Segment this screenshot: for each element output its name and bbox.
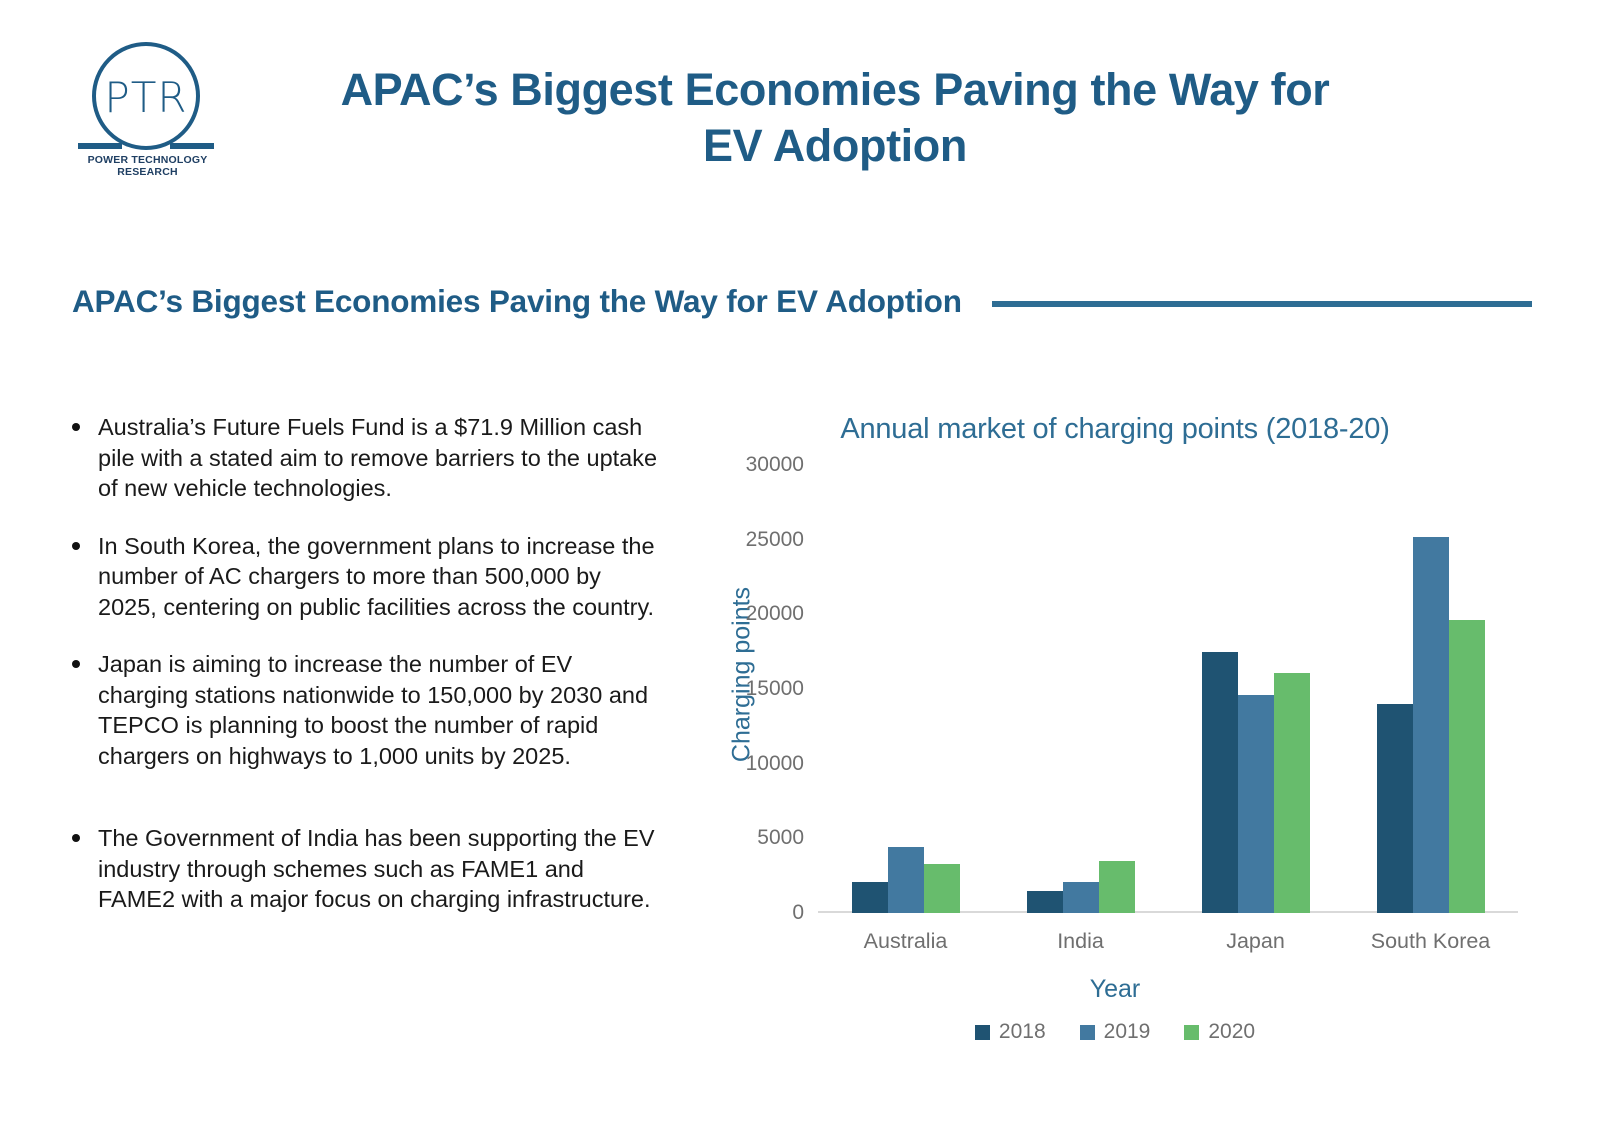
bar-2018-india bbox=[1027, 891, 1063, 913]
list-item-text: In South Korea, the government plans to … bbox=[98, 533, 655, 620]
ptr-logo: PTR POWER TECHNOLOGY RESEARCH bbox=[70, 42, 225, 177]
chart-legend: 201820192020 bbox=[690, 1020, 1540, 1044]
legend-swatch-icon bbox=[975, 1025, 990, 1040]
y-axis-tick-label: 25000 bbox=[746, 528, 804, 552]
list-item: The Government of India has been support… bbox=[62, 823, 662, 915]
bar-2020-south-korea bbox=[1449, 620, 1485, 913]
x-axis-category-label: Japan bbox=[1168, 929, 1343, 954]
bar-2019-south-korea bbox=[1413, 537, 1449, 913]
bar-2018-australia bbox=[852, 882, 888, 913]
bar-group: South Korea bbox=[1343, 465, 1518, 913]
bar-group: India bbox=[993, 465, 1168, 913]
plot-area: 300002500020000150001000050000 Australia… bbox=[818, 465, 1518, 913]
bullet-dot-icon bbox=[72, 660, 80, 668]
list-item: Australia’s Future Fuels Fund is a $71.9… bbox=[62, 412, 662, 504]
bar-2019-australia bbox=[888, 847, 924, 913]
x-axis-category-label: Australia bbox=[818, 929, 993, 954]
bar-groups: AustraliaIndiaJapanSouth Korea bbox=[818, 465, 1518, 913]
key-points-list: Australia’s Future Fuels Fund is a $71.9… bbox=[62, 412, 662, 915]
y-axis-tick-label: 10000 bbox=[746, 752, 804, 776]
logo-foot-left-icon bbox=[78, 143, 122, 149]
legend-label: 2020 bbox=[1208, 1020, 1255, 1044]
bullet-dot-icon bbox=[72, 834, 80, 842]
bar-2020-japan bbox=[1274, 673, 1310, 913]
section-title: APAC’s Biggest Economies Paving the Way … bbox=[72, 283, 962, 320]
y-axis-tick-label: 0 bbox=[792, 901, 804, 925]
y-axis-tick-label: 5000 bbox=[757, 826, 804, 850]
logo-caption: POWER TECHNOLOGY RESEARCH bbox=[70, 154, 225, 178]
legend-label: 2018 bbox=[999, 1020, 1046, 1044]
page-title: APAC’s Biggest Economies Paving the Way … bbox=[330, 62, 1340, 174]
page-header: PTR POWER TECHNOLOGY RESEARCH APAC’s Big… bbox=[0, 0, 1600, 215]
legend-item-2018[interactable]: 2018 bbox=[975, 1020, 1046, 1044]
bar-2018-south-korea bbox=[1377, 704, 1413, 913]
section-heading: APAC’s Biggest Economies Paving the Way … bbox=[72, 276, 1532, 326]
list-item-text: Japan is aiming to increase the number o… bbox=[98, 651, 648, 769]
bar-group: Australia bbox=[818, 465, 993, 913]
chart-title: Annual market of charging points (2018-2… bbox=[690, 413, 1540, 446]
list-item: In South Korea, the government plans to … bbox=[62, 531, 662, 623]
x-axis-category-label: South Korea bbox=[1343, 929, 1518, 954]
legend-item-2019[interactable]: 2019 bbox=[1080, 1020, 1151, 1044]
y-axis-tick-label: 30000 bbox=[746, 453, 804, 477]
logo-foot-right-icon bbox=[170, 143, 214, 149]
x-axis-label: Year bbox=[690, 975, 1540, 1004]
bar-2018-japan bbox=[1202, 652, 1238, 913]
y-axis-tick-label: 15000 bbox=[746, 677, 804, 701]
bar-2020-australia bbox=[924, 864, 960, 913]
list-item-text: Australia’s Future Fuels Fund is a $71.9… bbox=[98, 414, 657, 501]
section-divider bbox=[992, 301, 1532, 307]
bar-chart: Annual market of charging points (2018-2… bbox=[690, 405, 1540, 1065]
list-item-text: The Government of India has been support… bbox=[98, 825, 655, 912]
bar-2019-india bbox=[1063, 882, 1099, 913]
y-axis-tick-label: 20000 bbox=[746, 602, 804, 626]
legend-swatch-icon bbox=[1184, 1025, 1199, 1040]
logo-monogram: PTR bbox=[92, 68, 200, 128]
bar-2019-japan bbox=[1238, 695, 1274, 913]
bar-group: Japan bbox=[1168, 465, 1343, 913]
bullet-dot-icon bbox=[72, 542, 80, 550]
legend-swatch-icon bbox=[1080, 1025, 1095, 1040]
x-axis-category-label: India bbox=[993, 929, 1168, 954]
legend-label: 2019 bbox=[1104, 1020, 1151, 1044]
legend-item-2020[interactable]: 2020 bbox=[1184, 1020, 1255, 1044]
list-item: Japan is aiming to increase the number o… bbox=[62, 649, 662, 771]
bar-2020-india bbox=[1099, 861, 1135, 913]
bullet-dot-icon bbox=[72, 423, 80, 431]
